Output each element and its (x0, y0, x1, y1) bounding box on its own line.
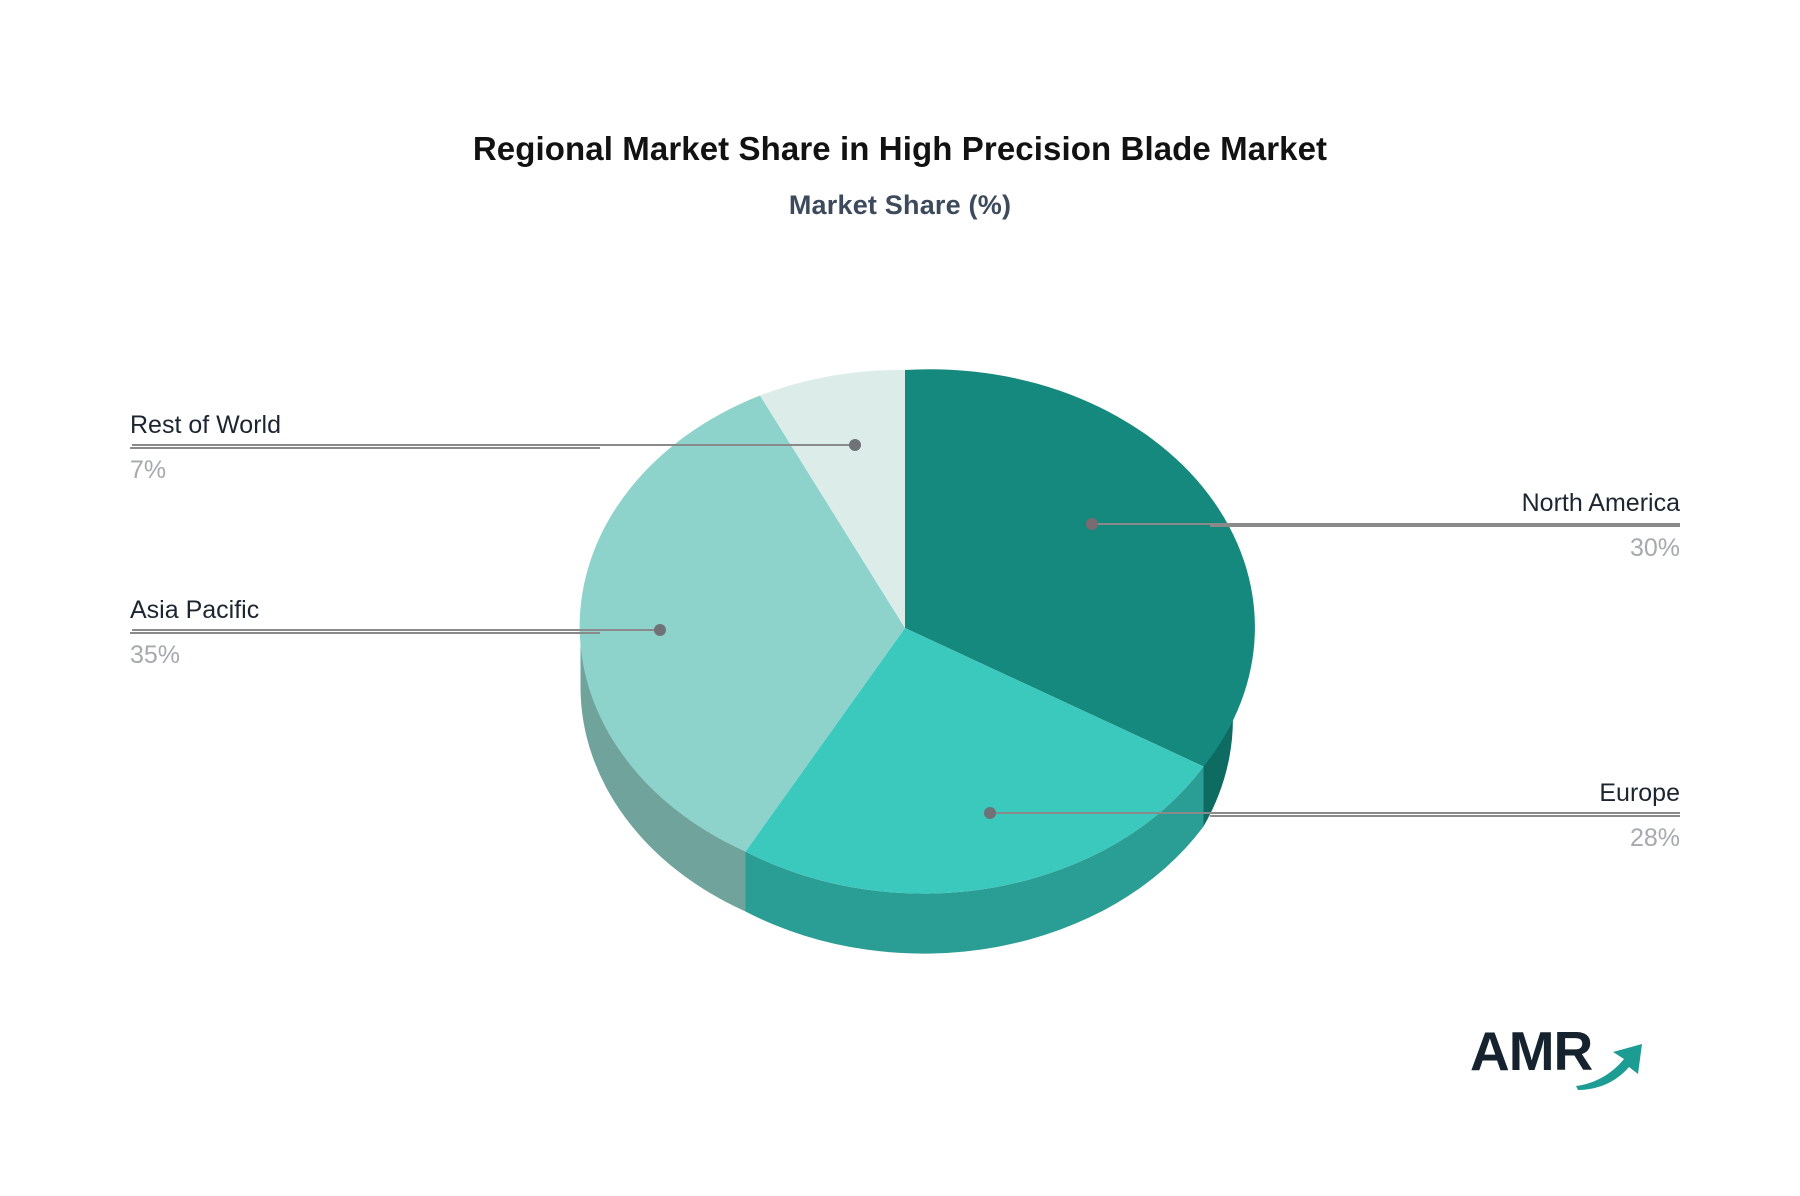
callout-rule-europe (1210, 815, 1680, 817)
callout-value-europe: 28% (1210, 823, 1680, 853)
pie-wall-asia-pacific (581, 628, 746, 912)
chart-canvas: Regional Market Share in High Precision … (0, 0, 1800, 1196)
callout-europe: Europe 28% (1210, 778, 1680, 853)
callout-rule-north-america (1210, 525, 1680, 527)
callout-label-europe: Europe (1210, 778, 1680, 808)
leader-dot-asia-pacific (654, 624, 666, 636)
pie-slice-europe (746, 628, 1204, 894)
pie-slice-asia-pacific (580, 396, 905, 852)
leader-dot-europe (984, 807, 996, 819)
callout-asia-pacific: Asia Pacific 35% (130, 595, 600, 670)
amr-logo-text: AMR (1470, 1020, 1593, 1082)
leader-dot-north-america (1086, 518, 1098, 530)
chart-subtitle: Market Share (%) (0, 190, 1800, 221)
pie-top-faces (580, 369, 1255, 893)
callout-north-america: North America 30% (1210, 488, 1680, 563)
pie-leader-dots (654, 439, 1098, 819)
callout-label-rest-of-world: Rest of World (130, 410, 600, 440)
callout-value-rest-of-world: 7% (130, 455, 600, 485)
pie-wall-europe (746, 767, 1204, 954)
callout-rest-of-world: Rest of World 7% (130, 410, 600, 485)
callout-label-asia-pacific: Asia Pacific (130, 595, 600, 625)
pie-slice-rest-of-world (760, 370, 905, 628)
amr-logo: AMR (1470, 1020, 1650, 1090)
callout-rule-asia-pacific (130, 632, 600, 634)
callout-value-north-america: 30% (1210, 533, 1680, 563)
callout-label-north-america: North America (1210, 488, 1680, 518)
callout-value-asia-pacific: 35% (130, 640, 600, 670)
amr-logo-svg: AMR (1470, 1020, 1650, 1090)
pie-depth-walls (581, 628, 1233, 954)
page-title: Regional Market Share in High Precision … (0, 130, 1800, 168)
callout-rule-rest-of-world (130, 447, 600, 449)
leader-dot-rest-of-world (849, 439, 861, 451)
pie-slice-north-america (905, 369, 1255, 766)
